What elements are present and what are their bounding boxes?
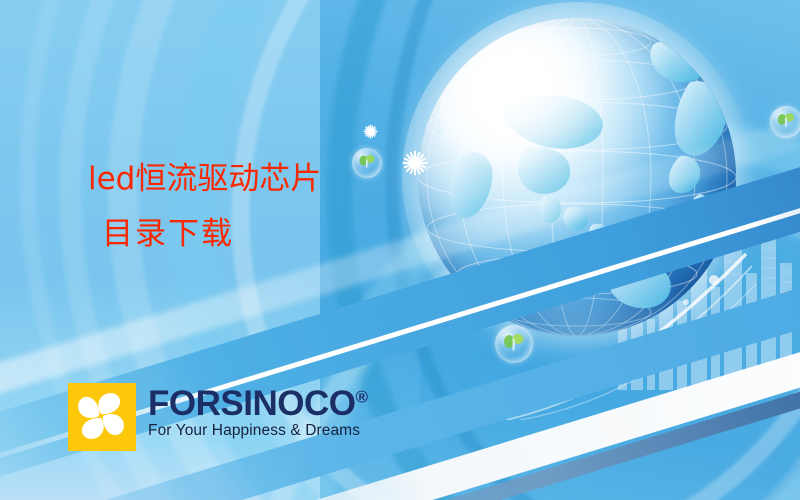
- logo-text-block: FORSINOCO® For Your Happiness & Dreams: [148, 383, 367, 440]
- green-sprout-icon: [502, 331, 526, 358]
- pinwheel-flower-icon: [68, 383, 136, 451]
- headline: led恒流驱动芯片 目录下载: [88, 164, 321, 250]
- promo-banner: led恒流驱动芯片 目录下载 FORSINOCO® For Your Happi…: [0, 0, 800, 500]
- brand-tagline: For Your Happiness & Dreams: [148, 422, 367, 440]
- headline-line-2: 目录下载: [102, 219, 321, 250]
- registered-trademark-icon: ®: [355, 387, 367, 406]
- starburst-icon: [363, 124, 378, 144]
- brand-name-text: FORSINOCO: [148, 384, 355, 423]
- bubble-icon: [352, 148, 382, 178]
- headline-line-1: led恒流驱动芯片: [88, 161, 321, 197]
- brand-name: FORSINOCO®: [148, 385, 367, 423]
- bubble-icon: [495, 325, 533, 363]
- company-logo: FORSINOCO® For Your Happiness & Dreams: [68, 383, 367, 451]
- green-sprout-icon: [358, 153, 376, 174]
- starburst-icon: [402, 150, 428, 181]
